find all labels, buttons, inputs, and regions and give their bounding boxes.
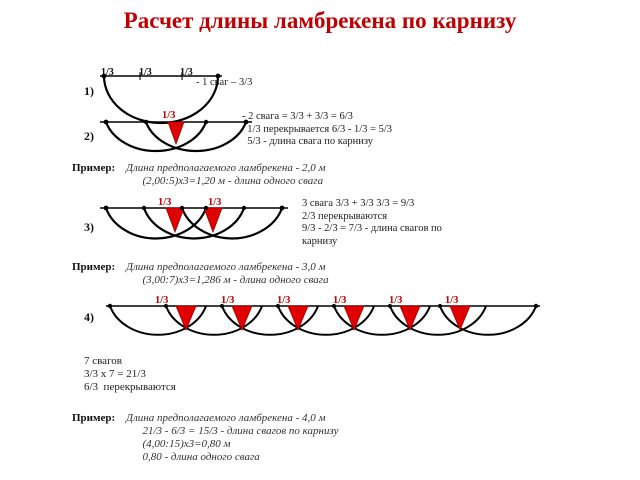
row-4-number: 4): [84, 310, 94, 325]
row-4-mark-3: 1/3: [277, 295, 290, 306]
row-4-mark-5: 1/3: [389, 295, 402, 306]
row-3-example-label: Пример:: [72, 261, 115, 273]
row-4-mark-4: 1/3: [333, 295, 346, 306]
diagram-area: 1) 1/3 1/3 1/3 - 1 сваг – 3/3 2): [0, 48, 640, 480]
row-1-mark-1: 1/3: [101, 67, 114, 78]
row-4-example-text: Длина предполагаемого ламбрекена - 4,0 м…: [126, 412, 339, 464]
row-3-example-text: Длина предполагаемого ламбрекена - 3,0 м…: [126, 261, 329, 287]
row-3-number: 3): [84, 220, 94, 235]
row-4-mark-6: 1/3: [445, 295, 458, 306]
row-1-note: - 1 сваг – 3/3: [196, 77, 252, 90]
row-1-mark-3: 1/3: [180, 67, 193, 78]
row-4-mark-2: 1/3: [221, 295, 234, 306]
row-4-summary: 7 свагов 3/3 х 7 = 21/3 6/3 перекрываютс…: [84, 355, 176, 394]
row-2-note: - 2 свага = 3/3 + 3/3 = 6/3 1/3 перекрыв…: [242, 111, 392, 149]
row-2-example-text: Длина предполагаемого ламбрекена - 2,0 м…: [126, 162, 326, 188]
row-3-drawing: [96, 196, 292, 258]
page-title: Расчет длины ламбрекена по карнизу: [0, 8, 640, 34]
row-2-example-label: Пример:: [72, 162, 115, 174]
slide: Расчет длины ламбрекена по карнизу 1) 1/…: [0, 0, 640, 480]
row-4-mark-1: 1/3: [155, 295, 168, 306]
row-2-drawing: [96, 110, 256, 168]
row-4-example-label: Пример:: [72, 412, 115, 424]
row-3-note: 3 свага 3/3 + 3/3 3/3 = 9/3 2/3 перекрыв…: [302, 198, 442, 248]
row-2-mark-1: 1/3: [162, 110, 175, 121]
row-1-number: 1): [84, 84, 94, 99]
row-2-number: 2): [84, 129, 94, 144]
row-4-drawing: [104, 294, 542, 356]
row-3-mark-1: 1/3: [158, 197, 171, 208]
row-1-mark-2: 1/3: [139, 67, 152, 78]
row-3-mark-2: 1/3: [208, 197, 221, 208]
